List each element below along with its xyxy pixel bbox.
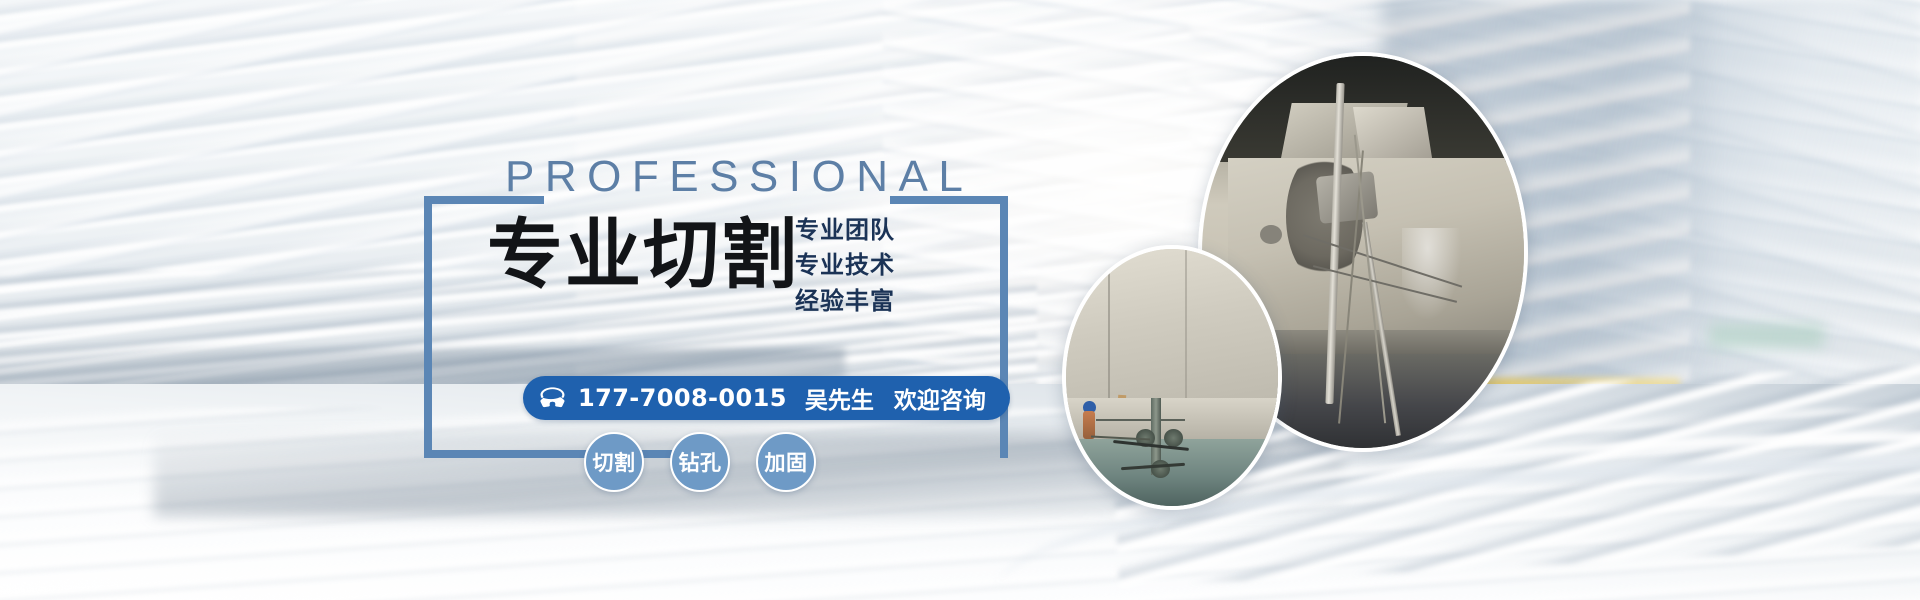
service-circle-cutting[interactable]: 切割 xyxy=(584,432,644,492)
wire-saw-worker-photo-art xyxy=(1066,249,1278,506)
feature-item-2: 专业技术 xyxy=(795,251,895,280)
wire-saw-worker-photo xyxy=(1062,245,1282,510)
service-circle-drilling[interactable]: 钻孔 xyxy=(670,432,730,492)
service-circle-reinforce[interactable]: 加固 xyxy=(756,432,816,492)
headline-english: PROFESSIONAL xyxy=(505,152,973,202)
contact-phone-bar[interactable]: 177-7008-0015 吴先生 欢迎咨询 xyxy=(523,376,1010,420)
bracket-left-vertical-rule xyxy=(424,196,432,458)
feature-item-1: 专业团队 xyxy=(795,216,895,245)
feature-item-3: 经验丰富 xyxy=(795,287,895,316)
bracket-right-vertical-rule xyxy=(1000,196,1008,458)
headline-chinese: 专业切割 xyxy=(487,217,799,293)
contact-name: 吴先生 xyxy=(805,381,874,415)
service-circle-group: 切割 钻孔 加固 xyxy=(584,432,816,492)
feature-list: 专业团队 专业技术 经验丰富 xyxy=(795,216,895,316)
contact-cta: 欢迎咨询 xyxy=(894,381,986,415)
telephone-icon xyxy=(539,386,566,410)
phone-number: 177-7008-0015 xyxy=(578,384,787,412)
promo-banner: PROFESSIONAL 专业切割 专业团队 专业技术 经验丰富 177-700… xyxy=(0,0,1920,600)
green-sign-blur xyxy=(1709,324,1824,348)
